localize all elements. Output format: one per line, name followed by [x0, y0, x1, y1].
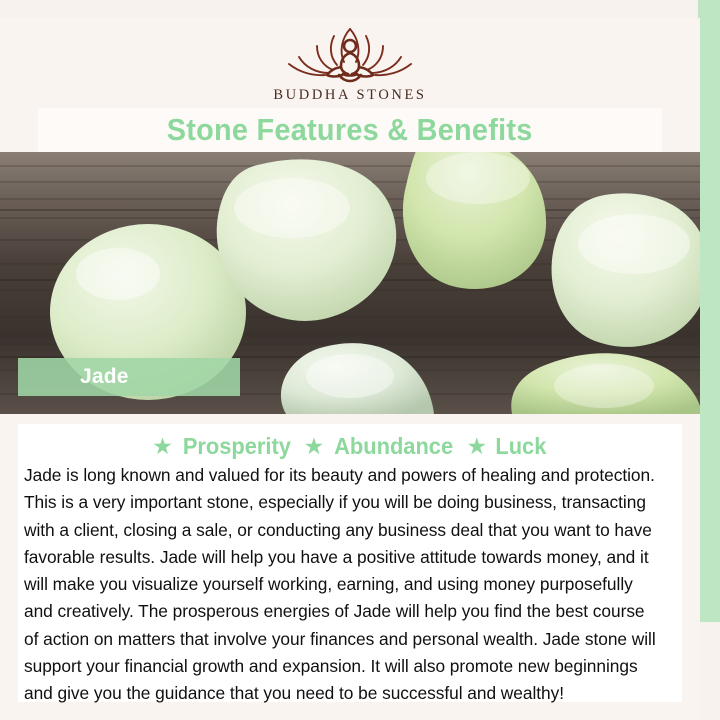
benefit-prosperity: ★ Prosperity	[152, 433, 293, 460]
benefits-row: ★ Prosperity ★ Abundance ★ Luck	[18, 430, 682, 462]
benefit-luck: ★ Luck	[466, 433, 547, 460]
benefit-label: Prosperity	[183, 433, 291, 460]
title-band: Stone Features & Benefits	[38, 108, 662, 152]
benefit-label: Abundance	[334, 433, 453, 460]
brand-name: BUDDHA STONES	[273, 87, 426, 104]
page-title: Stone Features & Benefits	[167, 112, 533, 148]
benefit-label: Luck	[495, 433, 546, 460]
hero-photo: Jade	[0, 152, 700, 414]
star-icon: ★	[152, 435, 173, 458]
lotus-meditation-icon	[279, 24, 421, 86]
description-panel: Jade is long known and valued for its be…	[18, 424, 682, 702]
decorative-band-right	[698, 0, 720, 622]
stone-label-banner: Jade	[18, 358, 240, 396]
description-text: Jade is long known and valued for its be…	[24, 462, 662, 708]
stone-benefits-infographic: BUDDHA STONES Stone Features & Benefits	[0, 0, 720, 720]
star-icon: ★	[466, 435, 487, 458]
benefit-abundance: ★ Abundance	[304, 433, 457, 460]
star-icon: ★	[304, 435, 325, 458]
brand-header: BUDDHA STONES	[0, 18, 700, 110]
stone-name: Jade	[80, 365, 129, 389]
